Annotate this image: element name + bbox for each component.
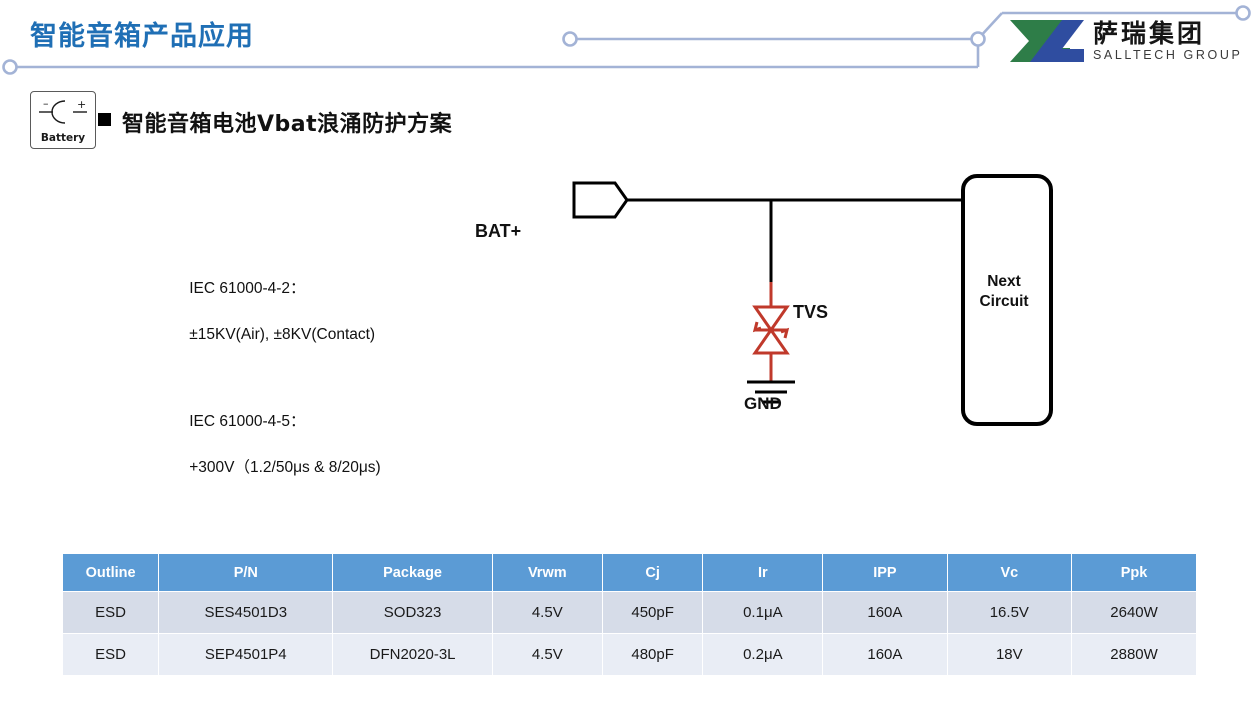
- parameter-table: Outline P/N Package Vrwm Cj Ir IPP Vc Pp…: [62, 553, 1197, 676]
- cell-ir: 0.2μA: [703, 634, 823, 676]
- next-circuit-line2: Circuit: [979, 293, 1028, 310]
- logo-text-en: SALLTECH GROUP: [1093, 49, 1242, 62]
- slide-root: 智能音箱产品应用 萨瑞集团 SALLTECH GROUP – + Battery: [0, 0, 1257, 706]
- next-circuit-label: Next Circuit: [963, 272, 1045, 312]
- cell-cj: 450pF: [602, 592, 703, 634]
- cell-vc: 18V: [947, 634, 1072, 676]
- svg-text:+: +: [77, 98, 86, 111]
- decor-node-left: [4, 61, 17, 74]
- svg-text:–: –: [43, 97, 49, 110]
- table-header-outline: Outline: [63, 554, 159, 592]
- table-header-pn: P/N: [159, 554, 333, 592]
- table-row: ESD SEP4501P4 DFN2020-3L 4.5V 480pF 0.2μ…: [63, 634, 1197, 676]
- section-title: 智能音箱电池Vbat浪涌防护方案: [122, 106, 452, 138]
- cell-ipp: 160A: [823, 634, 947, 676]
- bat-connector-icon: [574, 183, 627, 217]
- section-bullet-icon: [98, 113, 111, 126]
- battery-symbol-icon: – +: [31, 92, 95, 132]
- table-header-ppk: Ppk: [1072, 554, 1197, 592]
- spec-line-3: IEC 61000-4-5：: [189, 413, 305, 430]
- cell-pn: SES4501D3: [159, 592, 333, 634]
- table-header-row: Outline P/N Package Vrwm Cj Ir IPP Vc Pp…: [63, 554, 1197, 592]
- battery-badge: – + Battery: [30, 91, 96, 149]
- cell-package: DFN2020-3L: [333, 634, 492, 676]
- cell-ppk: 2880W: [1072, 634, 1197, 676]
- brand-logo: 萨瑞集团 SALLTECH GROUP: [1008, 16, 1242, 66]
- spec-text-block: IEC 61000-4-2： ±15KV(Air), ±8KV(Contact)…: [172, 254, 381, 502]
- cell-outline: ESD: [63, 634, 159, 676]
- decor-node-junction: [972, 33, 985, 46]
- table-header-vc: Vc: [947, 554, 1072, 592]
- logo-text-cn: 萨瑞集团: [1093, 21, 1242, 46]
- table-header-vrwm: Vrwm: [492, 554, 602, 592]
- table-header-ipp: IPP: [823, 554, 947, 592]
- cell-cj: 480pF: [602, 634, 703, 676]
- table-header-cj: Cj: [602, 554, 703, 592]
- tvs-diode-icon: [755, 307, 787, 353]
- cell-ir: 0.1μA: [703, 592, 823, 634]
- cell-pn: SEP4501P4: [159, 634, 333, 676]
- table-header-ir: Ir: [703, 554, 823, 592]
- cell-outline: ESD: [63, 592, 159, 634]
- table-header-package: Package: [333, 554, 492, 592]
- bat-label: BAT+: [475, 221, 521, 242]
- cell-ppk: 2640W: [1072, 592, 1197, 634]
- cell-vrwm: 4.5V: [492, 634, 602, 676]
- next-circuit-line1: Next: [987, 273, 1021, 290]
- cell-package: SOD323: [333, 592, 492, 634]
- cell-ipp: 160A: [823, 592, 947, 634]
- battery-badge-label: Battery: [31, 132, 95, 144]
- cell-vrwm: 4.5V: [492, 592, 602, 634]
- salltech-logo-mark-icon: [1008, 16, 1086, 66]
- spec-line-4: +300V（1.2/50μs & 8/20μs): [189, 459, 381, 476]
- table-row: ESD SES4501D3 SOD323 4.5V 450pF 0.1μA 16…: [63, 592, 1197, 634]
- decor-node-mid: [564, 33, 577, 46]
- spec-line-1: IEC 61000-4-2：: [189, 280, 305, 297]
- cell-vc: 16.5V: [947, 592, 1072, 634]
- spec-line-2: ±15KV(Air), ±8KV(Contact): [189, 326, 375, 343]
- page-title: 智能音箱产品应用: [30, 14, 254, 53]
- tvs-label: TVS: [793, 302, 828, 323]
- gnd-label: GND: [744, 394, 782, 414]
